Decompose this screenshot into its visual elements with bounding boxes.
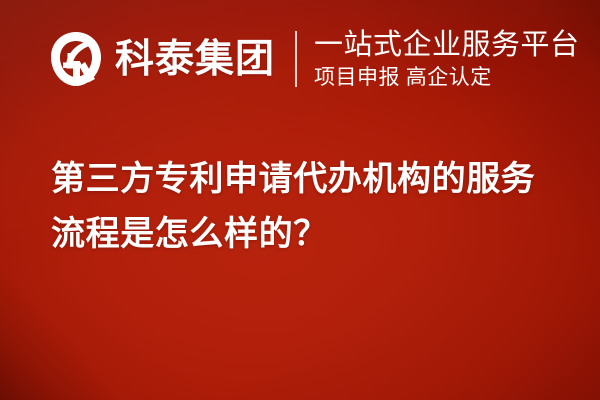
header-divider — [295, 31, 297, 87]
headline-line-1: 第三方专利申请代办机构的服务 — [51, 152, 561, 207]
tagline-secondary: 项目申报 高企认定 — [314, 66, 580, 89]
banner-header: 科泰集团 一站式企业服务平台 项目申报 高企认定 — [50, 28, 580, 90]
tagline-primary: 一站式企业服务平台 — [314, 29, 580, 61]
headline-line-2: 流程是怎么样的？ — [51, 207, 561, 262]
tagline-block: 一站式企业服务平台 项目申报 高企认定 — [314, 28, 580, 90]
promo-banner: 科泰集团 一站式企业服务平台 项目申报 高企认定 第三方专利申请代办机构的服务 … — [0, 0, 600, 400]
company-logo-icon — [50, 31, 102, 87]
headline-block: 第三方专利申请代办机构的服务 流程是怎么样的？ — [51, 152, 561, 262]
brand-name: 科泰集团 — [115, 40, 275, 79]
